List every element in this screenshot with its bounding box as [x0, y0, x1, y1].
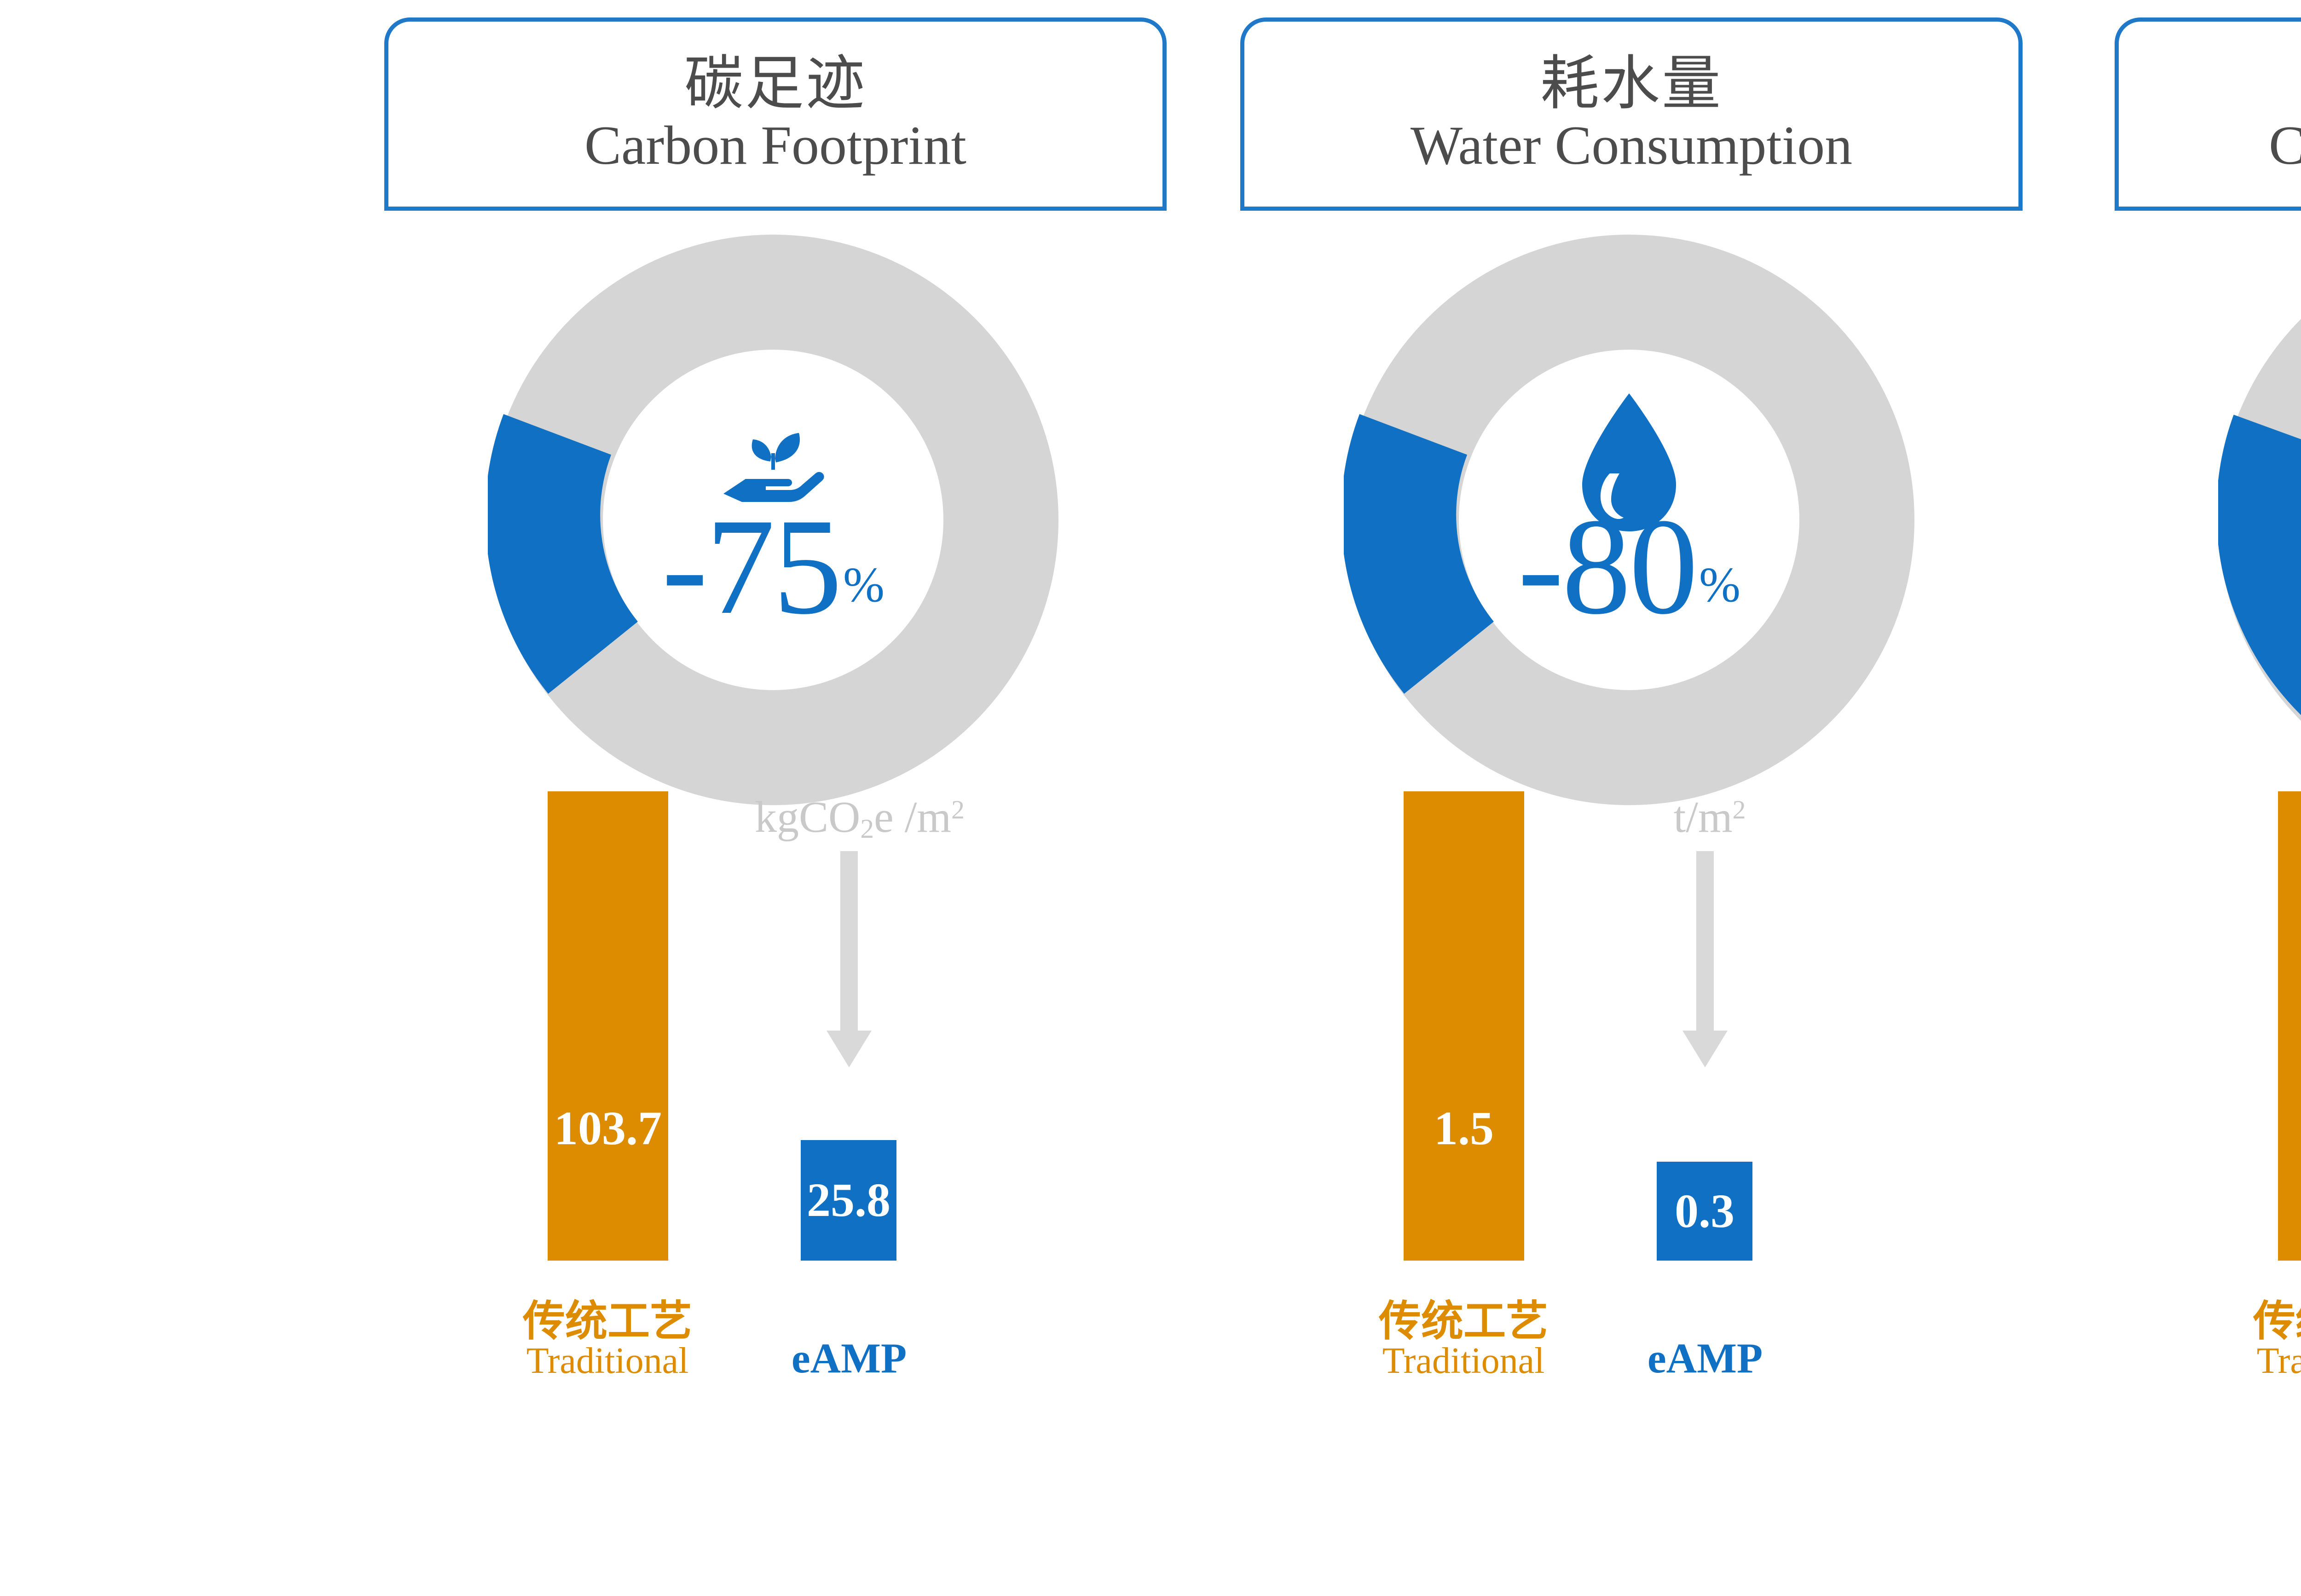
panel-title-en: Copper Consumption — [2269, 116, 2301, 174]
bar-comparison: t/m2 1.5 0.3 传统工艺 Traditional eAMP — [1362, 782, 1914, 1380]
bar-traditional: 1.5 — [1404, 791, 1524, 1261]
bar-traditional: 103.7 — [548, 791, 668, 1261]
caption-eamp-label: eAMP — [764, 1337, 934, 1380]
down-arrow-icon — [824, 851, 874, 1081]
caption-traditional-cn: 传统工艺 — [1362, 1300, 1565, 1343]
down-arrow-icon — [1680, 851, 1730, 1081]
panel-header-card: 铜损耗 Copper Consumption — [2115, 17, 2301, 211]
caption-traditional-cn: 传统工艺 — [2237, 1300, 2301, 1343]
bar-value-traditional: 103.7 — [548, 1105, 668, 1152]
caption-traditional-en: Traditional — [1362, 1342, 1565, 1380]
unit-label: t/m2 — [1611, 791, 1809, 845]
donut-gauge: -70 % — [2218, 235, 2301, 805]
bar-value-traditional: 161 — [2278, 1105, 2301, 1152]
panel-header-card: 耗水量 Water Consumption — [1240, 17, 2023, 211]
panel-copper-consumption: 铜损耗 Copper Consumption -70 % — [2071, 0, 2301, 1472]
infographic-board: 碳足迹 Carbon Footprint -75 — [0, 0, 2301, 1596]
caption-traditional: 传统工艺 Traditional — [506, 1300, 709, 1380]
bar-value-eamp: 0.3 — [1657, 1187, 1752, 1235]
unit-label: kgCO2e /m2 — [755, 791, 953, 845]
bar-comparison: kgCO2e /m2 103.7 25.8 传统工艺 Traditional e… — [506, 782, 1058, 1380]
donut-gauge: -80 % — [1344, 235, 1914, 805]
caption-eamp: eAMP — [764, 1337, 934, 1380]
caption-eamp-label: eAMP — [1620, 1337, 1790, 1380]
caption-traditional-cn: 传统工艺 — [506, 1300, 709, 1343]
panel-title-cn: 耗水量 — [1540, 54, 1723, 114]
caption-traditional-en: Traditional — [506, 1342, 709, 1380]
bar-comparison: g/m2 161 55 传统工艺 Traditional eAMP — [2237, 782, 2301, 1380]
bar-traditional: 161 — [2278, 791, 2301, 1261]
bar-value-eamp: 25.8 — [801, 1176, 896, 1224]
panel-title-en: Water Consumption — [1411, 116, 1852, 174]
bar-eamp: 0.3 — [1657, 1162, 1752, 1261]
bar-value-traditional: 1.5 — [1404, 1105, 1524, 1152]
panel-carbon-footprint: 碳足迹 Carbon Footprint -75 — [341, 0, 1169, 1472]
caption-traditional-en: Traditional — [2237, 1342, 2301, 1380]
caption-traditional: 传统工艺 Traditional — [1362, 1300, 1565, 1380]
panel-header-card: 碳足迹 Carbon Footprint — [384, 17, 1167, 211]
caption-traditional: 传统工艺 Traditional — [2237, 1300, 2301, 1380]
panel-title-en: Carbon Footprint — [584, 116, 966, 174]
caption-eamp: eAMP — [1620, 1337, 1790, 1380]
panel-water-consumption: 耗水量 Water Consumption -80 % — [1197, 0, 2025, 1472]
panel-title-cn: 碳足迹 — [684, 54, 867, 114]
bar-eamp: 25.8 — [801, 1140, 896, 1261]
donut-gauge: -75 % — [488, 235, 1058, 805]
